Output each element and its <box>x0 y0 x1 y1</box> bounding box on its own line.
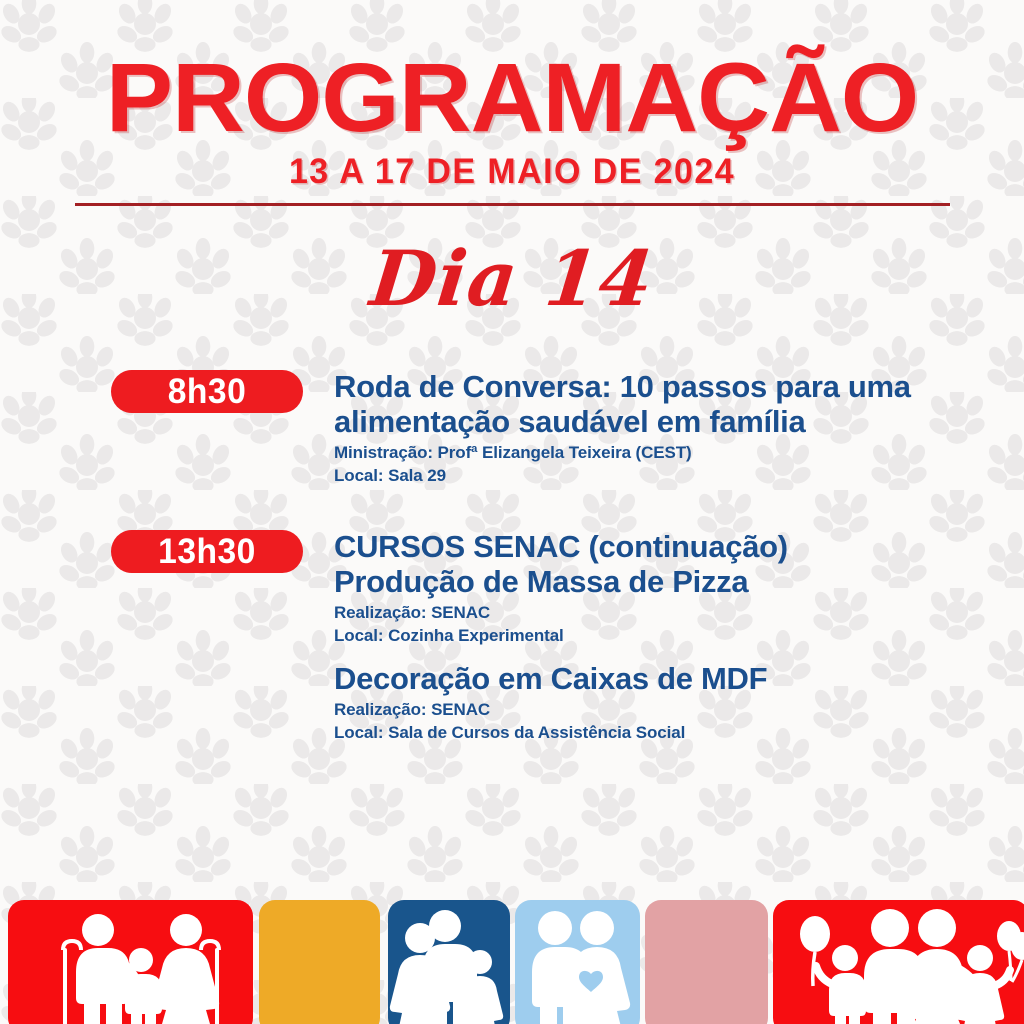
day-heading: Dia 14 <box>0 234 1024 344</box>
header-divider <box>75 203 950 206</box>
event-title-line: alimentação saudável em família <box>334 405 911 440</box>
banner-tile-family-blue <box>388 900 510 1024</box>
page-subtitle-dates: 13 A 17 DE MAIO DE 2024 <box>15 152 1008 192</box>
event-organizer: Realização: SENAC <box>334 699 788 720</box>
page-title: PROGRAMAÇÃO <box>0 52 1024 144</box>
event-location: Local: Cozinha Experimental <box>334 625 788 646</box>
bottom-banner <box>0 900 1024 1024</box>
schedule-event: 13h30 CURSOS SENAC (continuação) Produçã… <box>0 530 1024 743</box>
event-time-badge: 13h30 <box>111 530 303 573</box>
event-presenter: Ministração: Profª Elizangela Teixeira (… <box>334 442 911 463</box>
banner-tile-family-elderly <box>8 900 253 1024</box>
schedule-list: 8h30 Roda de Conversa: 10 passos para um… <box>0 370 1024 743</box>
event-location: Local: Sala 29 <box>334 465 911 486</box>
banner-tile-pink <box>645 900 768 1024</box>
event-subitem: Decoração em Caixas de MDF Realização: S… <box>334 662 788 743</box>
banner-tile-yellow <box>259 900 380 1024</box>
event-title-line: Roda de Conversa: 10 passos para uma <box>334 370 911 405</box>
family-with-balloons-icon <box>773 900 1024 1024</box>
event-title-line: Produção de Massa de Pizza <box>334 565 788 600</box>
event-location: Local: Sala de Cursos da Assistência Soc… <box>334 722 788 743</box>
event-details: Roda de Conversa: 10 passos para uma ali… <box>334 370 911 486</box>
family-elderly-couple-with-child-icon <box>8 900 253 1024</box>
event-time-badge: 8h30 <box>111 370 303 413</box>
day-label: Dia 14 <box>366 234 658 323</box>
family-parents-with-child-icon <box>388 900 510 1024</box>
poster-canvas: PROGRAMAÇÃO 13 A 17 DE MAIO DE 2024 Dia … <box>0 0 1024 1024</box>
event-details: CURSOS SENAC (continuação) Produção de M… <box>334 530 788 743</box>
banner-tile-family-balloons <box>773 900 1024 1024</box>
poster-header: PROGRAMAÇÃO 13 A 17 DE MAIO DE 2024 <box>0 0 1024 192</box>
event-group-heading: CURSOS SENAC (continuação) <box>334 530 788 565</box>
banner-tile-couple-lightblue <box>515 900 640 1024</box>
event-title-line: Decoração em Caixas de MDF <box>334 662 788 697</box>
couple-with-child-heart-icon <box>515 900 640 1024</box>
event-organizer: Realização: SENAC <box>334 602 788 623</box>
schedule-event: 8h30 Roda de Conversa: 10 passos para um… <box>0 370 1024 486</box>
